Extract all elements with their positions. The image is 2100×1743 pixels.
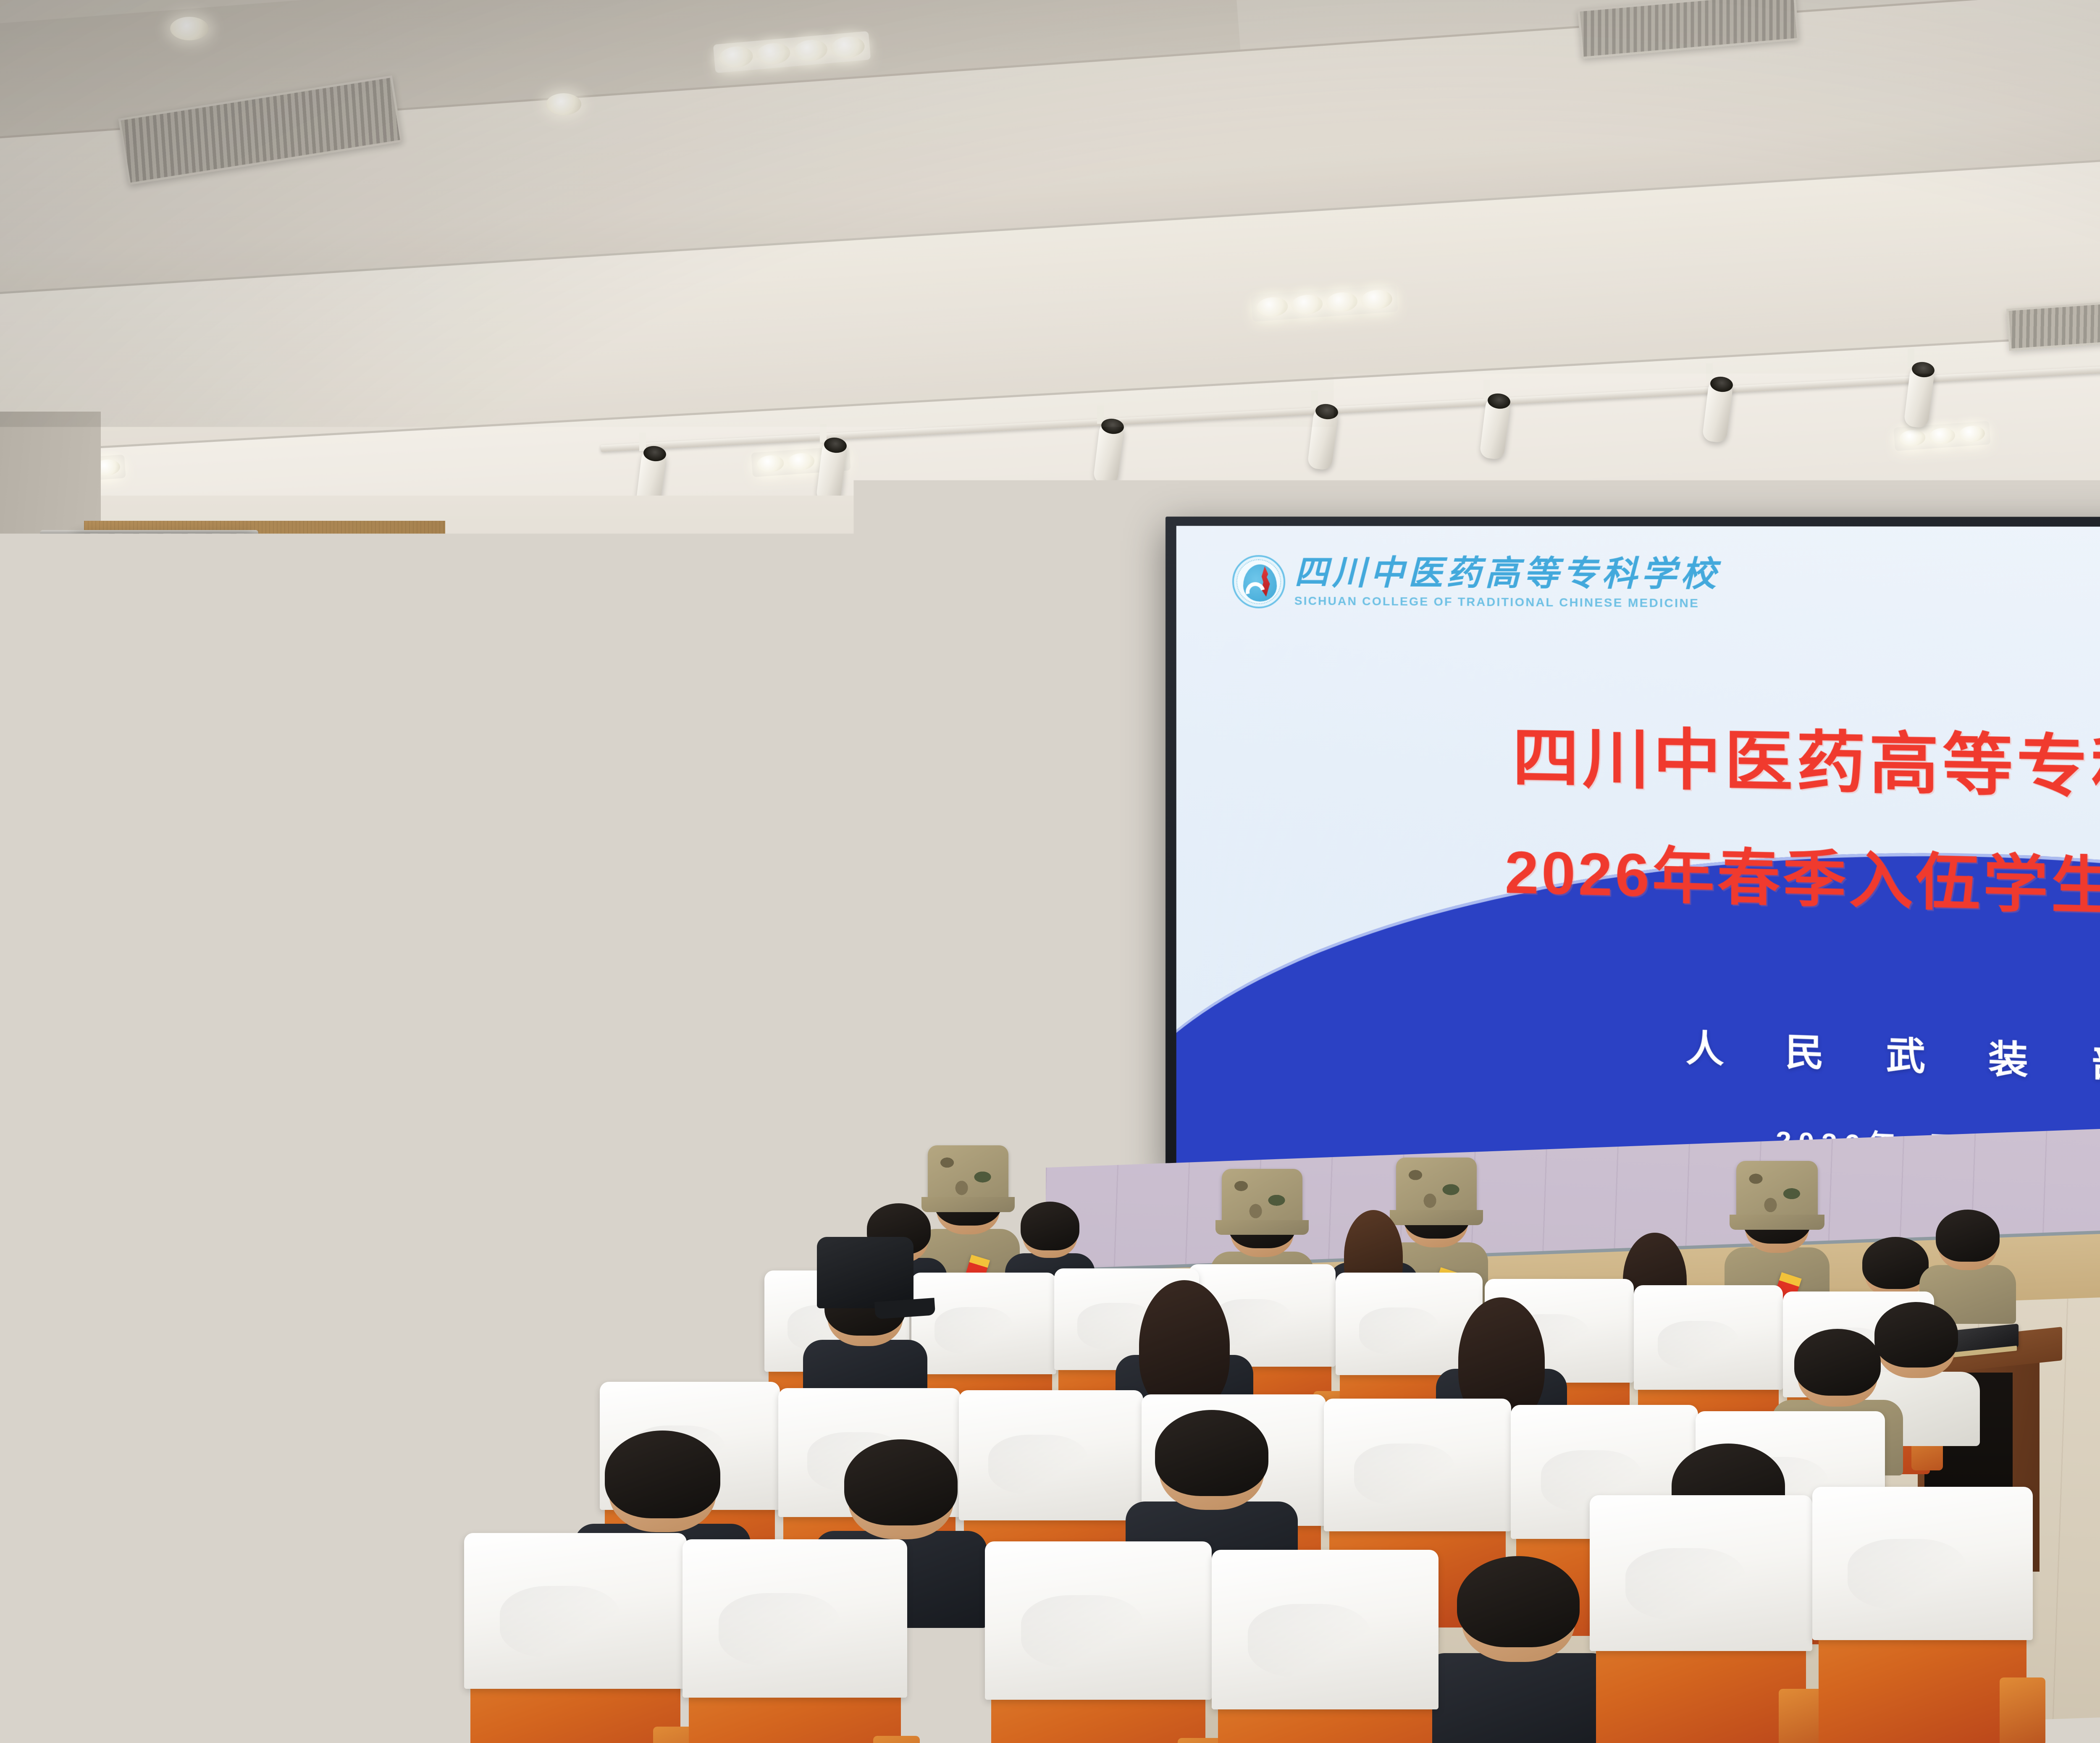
- wall-switch-icon[interactable]: [404, 1065, 438, 1086]
- rollup-banner-stand: 征兵宣传 参军报国 应征青年请到当地人民武装部报名，携带身份证、学生证等相关材料…: [67, 920, 147, 1260]
- audience-chair[interactable]: [1218, 1550, 1432, 1743]
- logo-chinese-name: 四川中医药高等专科学校: [1294, 556, 1720, 592]
- audience-chair[interactable]: [1819, 1487, 2026, 1743]
- pa-loudspeaker: [821, 611, 997, 737]
- audience-chair[interactable]: [689, 1539, 901, 1743]
- audience-person: [1745, 1197, 1809, 1287]
- audience-chair[interactable]: [126, 1520, 332, 1743]
- wall-between-screen: [1058, 521, 1176, 1260]
- audience-chair[interactable]: [1596, 1495, 1806, 1743]
- water-urn: [168, 1086, 246, 1159]
- camo-cap-icon: [928, 1145, 1008, 1203]
- audience-chair[interactable]: [470, 1533, 680, 1743]
- downlight-icon: [170, 17, 209, 40]
- black-cap-icon: [817, 1237, 913, 1308]
- door-vision-panel: [774, 928, 806, 991]
- logo-english-name: SICHUAN COLLEGE OF TRADITIONAL CHINESE M…: [1294, 594, 1720, 611]
- audience-person: [605, 1172, 667, 1258]
- wall-control-plate[interactable]: [754, 693, 802, 741]
- audience-person: [613, 1285, 693, 1394]
- slide-school-logo: 四川中医药高等专科学校 SICHUAN COLLEGE OF TRADITION…: [1232, 555, 1720, 612]
- audience-chair[interactable]: [991, 1541, 1205, 1743]
- ceremonial-flag: [340, 817, 437, 1220]
- electric-kettle: [0, 1105, 55, 1168]
- audience-person: [827, 1281, 903, 1386]
- audience-person: [1938, 1218, 1997, 1302]
- banner-body-text: 应征青年请到当地人民武装部报名，携带身份证、学生证等相关材料，报名时间以公告为准…: [76, 1014, 138, 1081]
- audience-person: [1405, 1193, 1468, 1281]
- slide-title-line-1: 四川中医药高等专科学校: [1176, 701, 2100, 822]
- speaker-brand-badge: [833, 693, 850, 703]
- banner-header-text: 征兵宣传: [71, 940, 143, 958]
- downlight-icon: [546, 93, 581, 115]
- school-seal-icon: [1232, 555, 1285, 609]
- black-cap-icon: [690, 1116, 771, 1175]
- camo-cap-icon: [1222, 1169, 1302, 1226]
- auditorium-photo: 征兵宣传 参军报国 应征青年请到当地人民武装部报名，携带身份证、学生证等相关材料…: [0, 0, 2100, 1743]
- panel-seam: [1031, 584, 1033, 1180]
- door-handle-icon[interactable]: [862, 1081, 869, 1119]
- audience-person: [1462, 1571, 1575, 1718]
- camo-cap-icon: [1736, 1161, 1818, 1220]
- audience-person: [937, 1180, 1000, 1268]
- banner-subtitle: 参军报国: [71, 983, 143, 1003]
- banner-header: 征兵宣传: [71, 924, 143, 974]
- audience-person: [699, 1153, 762, 1239]
- camo-cap-icon: [596, 1137, 675, 1194]
- camo-cap-icon: [1396, 1158, 1477, 1216]
- banner-photo: [75, 1100, 139, 1252]
- audience-person: [1142, 1291, 1226, 1405]
